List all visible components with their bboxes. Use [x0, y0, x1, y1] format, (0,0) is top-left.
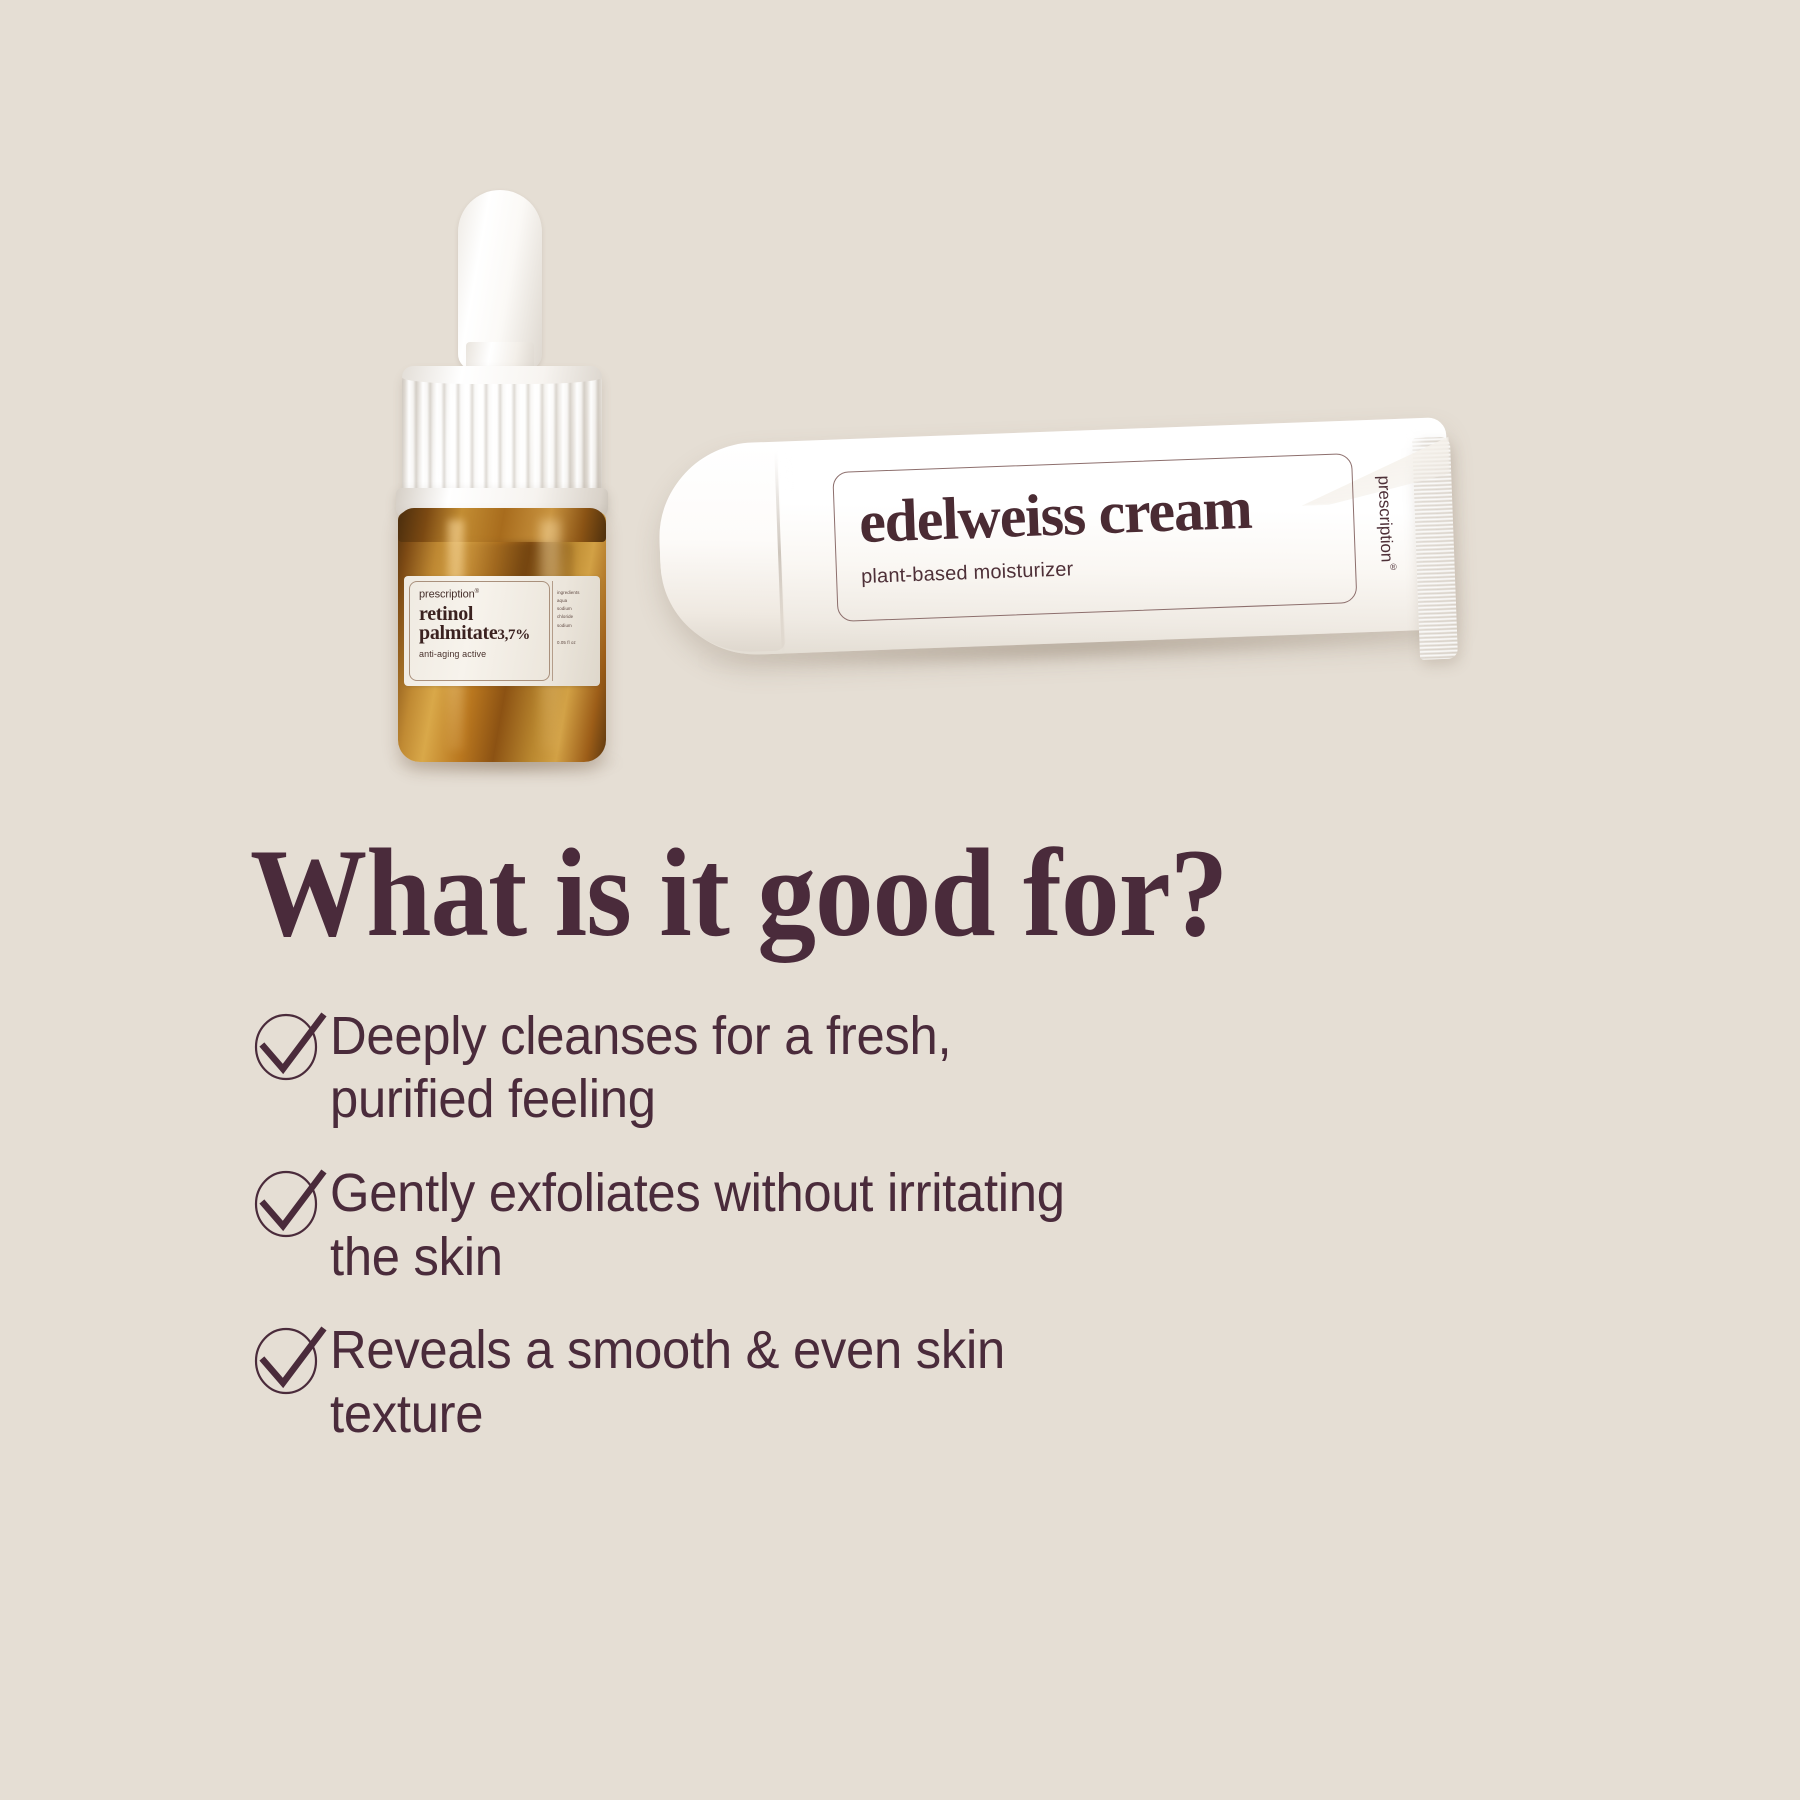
tube-label-frame: edelweiss cream plant-based moisturizer — [832, 453, 1357, 622]
tube-brand-vertical: prescription® — [1369, 475, 1404, 626]
list-item-label: Deeply cleanses for a fresh, purified fe… — [330, 1005, 1110, 1132]
bottle-brand-text: prescription — [419, 589, 475, 601]
cream-tube: edelweiss cream plant-based moisturizer … — [660, 420, 1490, 700]
bottle-ingredients-panel: ingredients aqua sodium chloride sodium … — [552, 581, 596, 681]
tube-subtitle: plant-based moisturizer — [861, 548, 1356, 589]
ingredient-line: aqua — [557, 597, 596, 605]
tube-cap — [656, 446, 785, 655]
bottle-title: retinol palmitate3,7% — [419, 605, 549, 644]
list-item-label: Reveals a smooth & even skin texture — [330, 1319, 1110, 1446]
list-item: Gently exfoliates without irritating the… — [250, 1162, 1580, 1289]
tube-title: edelweiss cream — [858, 474, 1354, 552]
dropper-bottle: prescription® retinol palmitate3,7% anti… — [380, 190, 640, 750]
bottle-title-line2: palmitate — [419, 622, 497, 644]
bottle-brand-mark: ® — [475, 589, 479, 595]
check-circle-icon — [250, 1166, 330, 1240]
ingredient-line: sodium — [557, 622, 596, 630]
tube-brand-mark: ® — [1388, 562, 1398, 572]
list-item-label: Gently exfoliates without irritating the… — [330, 1162, 1110, 1289]
check-circle-icon — [250, 1009, 330, 1083]
product-benefits-card: prescription® retinol palmitate3,7% anti… — [0, 0, 1800, 1800]
ingredient-line: chloride — [557, 613, 596, 621]
list-item: Reveals a smooth & even skin texture — [250, 1319, 1580, 1446]
list-item: Deeply cleanses for a fresh, purified fe… — [250, 1005, 1580, 1132]
bottle-label-main: prescription® retinol palmitate3,7% anti… — [409, 581, 550, 681]
amber-glass-shoulder — [398, 508, 606, 542]
bottle-label: prescription® retinol palmitate3,7% anti… — [404, 576, 600, 686]
bottle-subtitle: anti-aging active — [419, 649, 549, 659]
tube-brand-text: prescription — [1374, 475, 1396, 562]
ingredient-line: sodium — [557, 605, 596, 613]
bottle-title-line2-wrap: palmitate3,7% — [419, 624, 549, 644]
product-photo-scene: prescription® retinol palmitate3,7% anti… — [0, 0, 1800, 780]
bottle-cap-top — [402, 366, 602, 384]
ingredient-volume: 0.05 fl oz — [557, 639, 596, 647]
content-block: What is it good for? Deeply cleanses for… — [250, 830, 1580, 1477]
ingredient-line: ingredients — [557, 589, 596, 597]
page-title: What is it good for? — [250, 830, 1487, 959]
check-circle-icon — [250, 1323, 330, 1397]
bottle-ribbed-cap — [402, 368, 602, 506]
tube-brand-text-wrap: prescription® — [1373, 475, 1398, 572]
bottle-brand: prescription® — [419, 589, 549, 601]
benefits-list: Deeply cleanses for a fresh, purified fe… — [250, 1005, 1580, 1447]
bottle-concentration: 3,7% — [497, 627, 530, 643]
